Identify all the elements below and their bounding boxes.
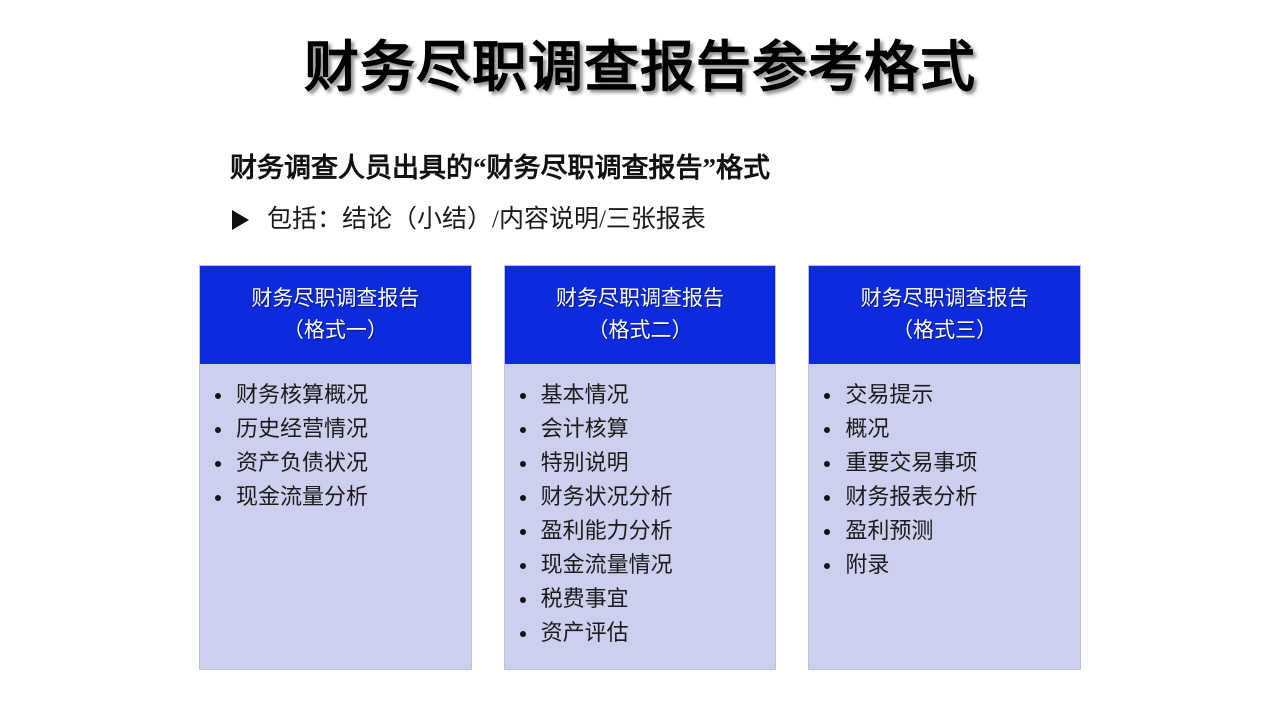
column-3-header-line1: 财务尽职调查报告	[861, 286, 1029, 310]
list-item[interactable]: 附录	[821, 548, 1072, 582]
list-item[interactable]: 税费事宜	[517, 582, 768, 616]
list-item[interactable]: 会计核算	[517, 412, 768, 446]
column-3-header-line2: （格式三）	[815, 314, 1074, 346]
column-2-body: 基本情况 会计核算 特别说明 财务状况分析 盈利能力分析 现金流量情况 税费事宜…	[505, 364, 776, 669]
list-item[interactable]: 盈利能力分析	[517, 514, 768, 548]
slide-canvas: 财务尽职调查报告参考格式 财务调查人员出具的“财务尽职调查报告”格式 包括：结论…	[0, 0, 1280, 720]
list-item[interactable]: 盈利预测	[821, 514, 1072, 548]
column-1-body: 财务核算概况 历史经营情况 资产负债状况 现金流量分析	[200, 364, 471, 669]
list-item[interactable]: 交易提示	[821, 378, 1072, 412]
list-item[interactable]: 重要交易事项	[821, 446, 1072, 480]
list-item[interactable]: 基本情况	[517, 378, 768, 412]
format-columns: 财务尽职调查报告 （格式一） 财务核算概况 历史经营情况 资产负债状况 现金流量…	[199, 265, 1081, 670]
column-2-header: 财务尽职调查报告 （格式二）	[505, 266, 776, 364]
page-title: 财务尽职调查报告参考格式	[0, 32, 1280, 102]
list-item[interactable]: 特别说明	[517, 446, 768, 480]
column-1-header-line2: （格式一）	[206, 314, 465, 346]
format-column-1[interactable]: 财务尽职调查报告 （格式一） 财务核算概况 历史经营情况 资产负债状况 现金流量…	[199, 265, 472, 670]
list-item[interactable]: 财务报表分析	[821, 480, 1072, 514]
subtitle-bullet-line: 包括：结论（小结）/内容说明/三张报表	[232, 203, 706, 237]
arrow-right-icon	[232, 210, 249, 230]
column-1-header-line1: 财务尽职调查报告	[251, 286, 419, 310]
column-2-header-line2: （格式二）	[511, 314, 770, 346]
list-item[interactable]: 资产评估	[517, 616, 768, 650]
list-item[interactable]: 现金流量情况	[517, 548, 768, 582]
list-item[interactable]: 财务状况分析	[517, 480, 768, 514]
column-2-header-line1: 财务尽职调查报告	[556, 286, 724, 310]
format-column-2[interactable]: 财务尽职调查报告 （格式二） 基本情况 会计核算 特别说明 财务状况分析 盈利能…	[504, 265, 777, 670]
slide-subtitle: 财务调查人员出具的“财务尽职调查报告”格式	[230, 150, 770, 186]
subtitle-bullet-text: 包括：结论（小结）/内容说明/三张报表	[267, 203, 706, 237]
column-2-item-list: 基本情况 会计核算 特别说明 财务状况分析 盈利能力分析 现金流量情况 税费事宜…	[517, 378, 768, 650]
list-item[interactable]: 现金流量分析	[212, 480, 463, 514]
list-item[interactable]: 概况	[821, 412, 1072, 446]
column-3-body: 交易提示 概况 重要交易事项 财务报表分析 盈利预测 附录	[809, 364, 1080, 669]
list-item[interactable]: 财务核算概况	[212, 378, 463, 412]
list-item[interactable]: 历史经营情况	[212, 412, 463, 446]
column-3-item-list: 交易提示 概况 重要交易事项 财务报表分析 盈利预测 附录	[821, 378, 1072, 582]
column-1-item-list: 财务核算概况 历史经营情况 资产负债状况 现金流量分析	[212, 378, 463, 514]
format-column-3[interactable]: 财务尽职调查报告 （格式三） 交易提示 概况 重要交易事项 财务报表分析 盈利预…	[808, 265, 1081, 670]
list-item[interactable]: 资产负债状况	[212, 446, 463, 480]
column-1-header: 财务尽职调查报告 （格式一）	[200, 266, 471, 364]
column-3-header: 财务尽职调查报告 （格式三）	[809, 266, 1080, 364]
